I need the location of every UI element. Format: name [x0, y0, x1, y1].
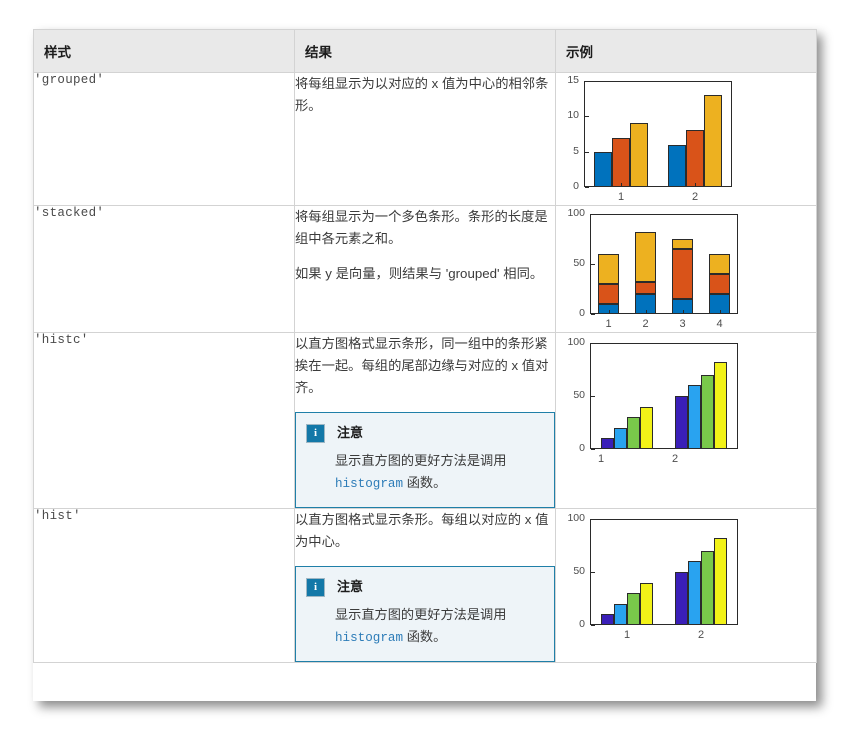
style-name-value: 'hist'	[34, 509, 81, 523]
note-header: i注意	[306, 423, 542, 443]
y-axis-tick-label: 15	[556, 74, 579, 86]
result-paragraph: 以直方图格式显示条形，同一组中的条形紧挨在一起。每组的尾部边缘与对应的 x 值对…	[295, 333, 555, 399]
result-paragraph: 如果 y 是向量，则结果与 'grouped' 相同。	[295, 263, 555, 285]
note-body: 显示直方图的更好方法是调用 histogram 函数。	[335, 450, 542, 495]
y-axis-tick-label: 0	[556, 180, 579, 192]
x-axis-tick-label: 1	[607, 191, 635, 203]
bar-segment	[709, 274, 729, 294]
column-header-result: 结果	[295, 30, 556, 73]
column-header-example: 示例	[556, 30, 817, 73]
doc-page-container: 样式 结果 示例 'grouped'将每组显示为以对应的 x 值为中心的相邻条形…	[33, 29, 816, 701]
example-chart-cell: 0501001234	[556, 206, 817, 333]
histogram-function-link[interactable]: histogram	[335, 631, 403, 645]
y-axis-tick-mark	[591, 343, 595, 344]
bar-segment	[675, 396, 688, 449]
bar-style-reference-table: 样式 结果 示例 'grouped'将每组显示为以对应的 x 值为中心的相邻条形…	[33, 29, 817, 663]
note-callout-box: i注意显示直方图的更好方法是调用 histogram 函数。	[295, 566, 555, 662]
style-name-cell: 'hist'	[34, 509, 295, 663]
style-name-value: 'grouped'	[34, 73, 104, 87]
bar-segment	[701, 551, 714, 625]
bar-segment	[594, 152, 612, 187]
bar-segment	[612, 138, 630, 187]
bar-segment	[672, 239, 692, 249]
table-row: 'hist'以直方图格式显示条形。每组以对应的 x 值为中心。i注意显示直方图的…	[34, 509, 817, 663]
table-header-row: 样式 结果 示例	[34, 30, 817, 73]
bar-segment	[614, 604, 627, 625]
x-axis-tick-label: 2	[687, 629, 715, 641]
bar-segment	[635, 282, 655, 294]
y-axis-tick-label: 0	[556, 442, 585, 454]
y-axis-tick-mark	[591, 519, 595, 520]
y-axis-tick-mark	[585, 187, 589, 188]
style-name-value: 'histc'	[34, 333, 89, 347]
result-description-cell: 以直方图格式显示条形。每组以对应的 x 值为中心。i注意显示直方图的更好方法是调…	[295, 509, 556, 663]
bar-segment	[668, 145, 686, 187]
style-name-cell: 'grouped'	[34, 73, 295, 206]
y-axis-tick-mark	[585, 116, 589, 117]
result-paragraph: 将每组显示为一个多色条形。条形的长度是组中各元素之和。	[295, 206, 555, 250]
bar-segment	[686, 130, 704, 187]
y-axis-tick-label: 0	[556, 307, 585, 319]
y-axis-tick-label: 10	[556, 109, 579, 121]
y-axis-tick-label: 50	[556, 565, 585, 577]
x-axis-tick-mark	[601, 445, 602, 449]
x-axis-tick-mark	[627, 621, 628, 625]
x-axis-tick-label: 1	[613, 629, 641, 641]
y-axis-tick-mark	[591, 625, 595, 626]
style-name-cell: 'histc'	[34, 333, 295, 509]
table-row: 'histc'以直方图格式显示条形，同一组中的条形紧挨在一起。每组的尾部边缘与对…	[34, 333, 817, 509]
y-axis-tick-label: 100	[556, 336, 585, 348]
bar-segment	[714, 538, 727, 625]
bar-segment	[709, 254, 729, 274]
note-title: 注意	[337, 423, 363, 442]
y-axis-tick-label: 0	[556, 618, 585, 630]
y-axis-tick-label: 100	[556, 512, 585, 524]
x-axis-tick-mark	[675, 445, 676, 449]
table-row: 'stacked'将每组显示为一个多色条形。条形的长度是组中各元素之和。如果 y…	[34, 206, 817, 333]
x-axis-tick-mark	[646, 310, 647, 314]
note-body-suffix: 函数。	[403, 629, 446, 644]
example-chart-stacked: 0501001234	[556, 206, 806, 332]
column-header-style: 样式	[34, 30, 295, 73]
histogram-function-link[interactable]: histogram	[335, 477, 403, 491]
x-axis-tick-label: 4	[706, 318, 734, 330]
result-paragraph: 将每组显示为以对应的 x 值为中心的相邻条形。	[295, 73, 555, 117]
bar-segment	[630, 123, 648, 187]
bar-segment	[601, 614, 614, 625]
bar-segment	[672, 249, 692, 299]
x-axis-tick-label: 1	[587, 453, 615, 465]
example-chart-hist: 05010012	[556, 509, 806, 645]
bar-segment	[598, 284, 618, 304]
bar-segment	[614, 428, 627, 449]
result-paragraph: 以直方图格式显示条形。每组以对应的 x 值为中心。	[295, 509, 555, 553]
y-axis-tick-mark	[591, 396, 595, 397]
x-axis-tick-mark	[621, 183, 622, 187]
y-axis-tick-label: 50	[556, 389, 585, 401]
example-chart-histc: 05010012	[556, 333, 806, 469]
bar-segment	[714, 362, 727, 449]
table-body: 'grouped'将每组显示为以对应的 x 值为中心的相邻条形。05101512…	[34, 73, 817, 663]
x-axis-tick-label: 3	[669, 318, 697, 330]
result-description-cell: 以直方图格式显示条形，同一组中的条形紧挨在一起。每组的尾部边缘与对应的 x 值对…	[295, 333, 556, 509]
example-chart-cell: 05010012	[556, 333, 817, 509]
info-icon: i	[306, 578, 325, 597]
x-axis-tick-mark	[720, 310, 721, 314]
x-axis-tick-mark	[695, 183, 696, 187]
y-axis-tick-mark	[585, 152, 589, 153]
table-row: 'grouped'将每组显示为以对应的 x 值为中心的相邻条形。05101512	[34, 73, 817, 206]
bar-segment	[601, 438, 614, 449]
result-description-cell: 将每组显示为一个多色条形。条形的长度是组中各元素之和。如果 y 是向量，则结果与…	[295, 206, 556, 333]
table-header: 样式 结果 示例	[34, 30, 817, 73]
bar-segment	[635, 232, 655, 282]
note-header: i注意	[306, 577, 542, 597]
y-axis-tick-label: 100	[556, 207, 585, 219]
y-axis-tick-mark	[591, 314, 595, 315]
x-axis-tick-label: 2	[661, 453, 689, 465]
bar-segment	[627, 593, 640, 625]
x-axis-tick-label: 2	[681, 191, 709, 203]
example-chart-cell: 05010012	[556, 509, 817, 663]
bar-segment	[688, 385, 701, 449]
y-axis-tick-mark	[591, 264, 595, 265]
x-axis-tick-mark	[701, 621, 702, 625]
note-callout-box: i注意显示直方图的更好方法是调用 histogram 函数。	[295, 412, 555, 508]
bar-segment	[598, 254, 618, 284]
bar-segment	[627, 417, 640, 449]
x-axis-tick-label: 1	[595, 318, 623, 330]
bar-segment	[640, 583, 653, 625]
y-axis-tick-mark	[591, 214, 595, 215]
example-chart-grouped: 05101512	[556, 73, 806, 205]
info-icon: i	[306, 424, 325, 443]
y-axis-tick-mark	[591, 572, 595, 573]
note-body-prefix: 显示直方图的更好方法是调用	[335, 607, 506, 622]
note-body: 显示直方图的更好方法是调用 histogram 函数。	[335, 604, 542, 649]
note-body-prefix: 显示直方图的更好方法是调用	[335, 453, 506, 468]
bar-segment	[704, 95, 722, 187]
x-axis-tick-label: 2	[632, 318, 660, 330]
bar-segment	[675, 572, 688, 625]
bar-segment	[640, 407, 653, 449]
x-axis-tick-mark	[609, 310, 610, 314]
style-name-cell: 'stacked'	[34, 206, 295, 333]
y-axis-tick-label: 5	[556, 145, 579, 157]
y-axis-tick-label: 50	[556, 257, 585, 269]
style-name-value: 'stacked'	[34, 206, 104, 220]
example-chart-cell: 05101512	[556, 73, 817, 206]
y-axis-tick-mark	[591, 449, 595, 450]
note-body-suffix: 函数。	[403, 475, 446, 490]
bar-segment	[688, 561, 701, 625]
result-description-cell: 将每组显示为以对应的 x 值为中心的相邻条形。	[295, 73, 556, 206]
bar-segment	[701, 375, 714, 449]
y-axis-tick-mark	[585, 81, 589, 82]
x-axis-tick-mark	[683, 310, 684, 314]
note-title: 注意	[337, 577, 363, 596]
